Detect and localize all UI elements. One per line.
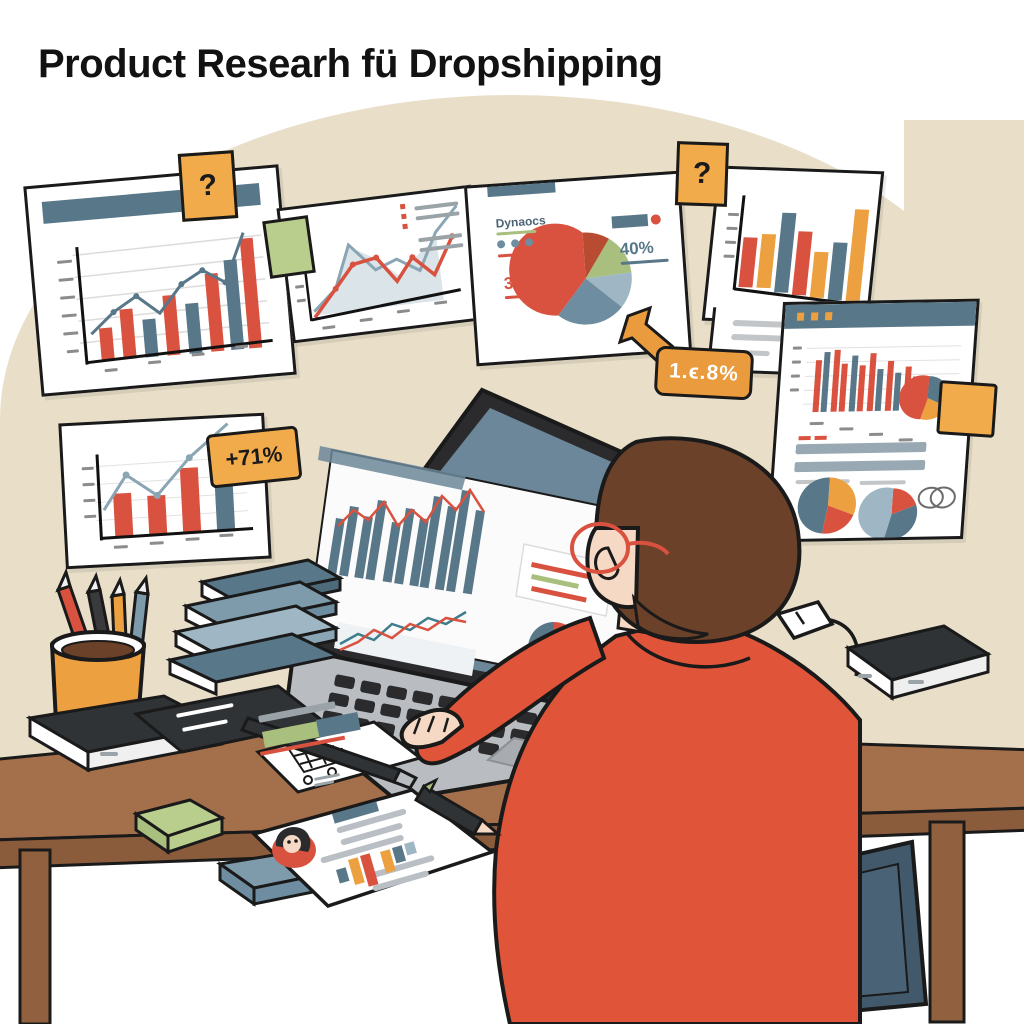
growth-percent-label: +71% <box>224 441 283 473</box>
legend-dots <box>400 204 408 229</box>
pie-chart-bottom-right <box>857 487 919 540</box>
notebook-chart-strip <box>240 676 380 766</box>
question-mark-icon: ? <box>692 157 712 192</box>
legend-swatch <box>611 214 648 228</box>
pie-label-30: 30% <box>503 272 538 294</box>
pie-label-40: 40% <box>619 238 654 260</box>
legend-dot <box>650 214 661 225</box>
sticky-note-question-left: ? <box>178 150 239 222</box>
sticky-note-question-right: ? <box>675 141 729 207</box>
page-title: Product Researh fü Dropshipping <box>38 42 938 87</box>
venn-icon <box>918 487 956 508</box>
report-document <box>236 766 496 946</box>
titlebar-dots <box>797 312 833 321</box>
sticky-note-orange-right <box>936 380 998 438</box>
sticky-note-green-mid <box>262 215 316 279</box>
combo-bar-line-chart-paper <box>23 164 296 397</box>
chart-bars <box>737 205 869 303</box>
closed-notebook <box>838 618 998 728</box>
label-underline-40 <box>621 259 669 265</box>
illustration-canvas: Product Researh fü Dropshipping <box>0 0 1024 1024</box>
question-mark-icon: ? <box>198 168 219 203</box>
chart-bars <box>92 238 262 362</box>
